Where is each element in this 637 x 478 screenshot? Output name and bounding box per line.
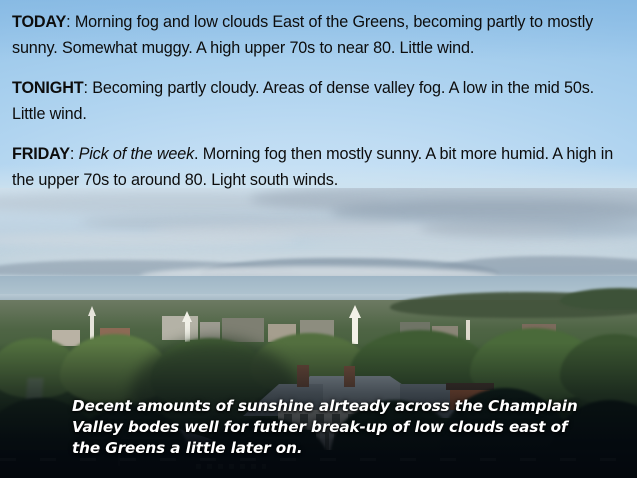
church-spire-center-icon <box>182 311 192 322</box>
forecast-period-label-today: TODAY <box>12 13 66 31</box>
forecast-emphasis-friday: Pick of the week <box>79 145 194 163</box>
forecast-text-panel: TODAY: Morning fog and low clouds East o… <box>0 0 637 190</box>
cloud-band-7 <box>300 238 637 250</box>
forecast-separator-friday: : <box>70 145 79 163</box>
forecast-period-text-today: Morning fog and low clouds East of the G… <box>12 13 593 57</box>
downtown-building-tall-1 <box>162 316 198 340</box>
church-steeple-far-right <box>466 320 470 340</box>
forecast-period-label-tonight: TONIGHT <box>12 79 84 97</box>
forecast-period-today: TODAY: Morning fog and low clouds East o… <box>12 9 623 61</box>
cloud-band-8 <box>420 218 637 238</box>
photo-caption: Decent amounts of sunshine alrteady acro… <box>72 396 592 459</box>
church-spire-left-icon <box>88 306 96 316</box>
church-steeple-center <box>185 320 190 342</box>
forecast-separator-today: : <box>66 13 75 31</box>
weather-forecast-graphic: TODAY: Morning fog and low clouds East o… <box>0 0 637 478</box>
forecast-period-tonight: TONIGHT: Becoming partly cloudy. Areas o… <box>12 75 623 127</box>
cloud-band-6 <box>0 234 300 247</box>
forecast-separator-tonight: : <box>84 79 93 97</box>
forecast-period-text-tonight: Becoming partly cloudy. Areas of dense v… <box>12 79 594 123</box>
church-spire-right-icon <box>349 305 361 318</box>
forecast-period-friday: FRIDAY: Pick of the week. Morning fog th… <box>12 141 623 190</box>
church-steeple-right <box>352 316 358 344</box>
forecast-period-label-friday: FRIDAY <box>12 145 70 163</box>
